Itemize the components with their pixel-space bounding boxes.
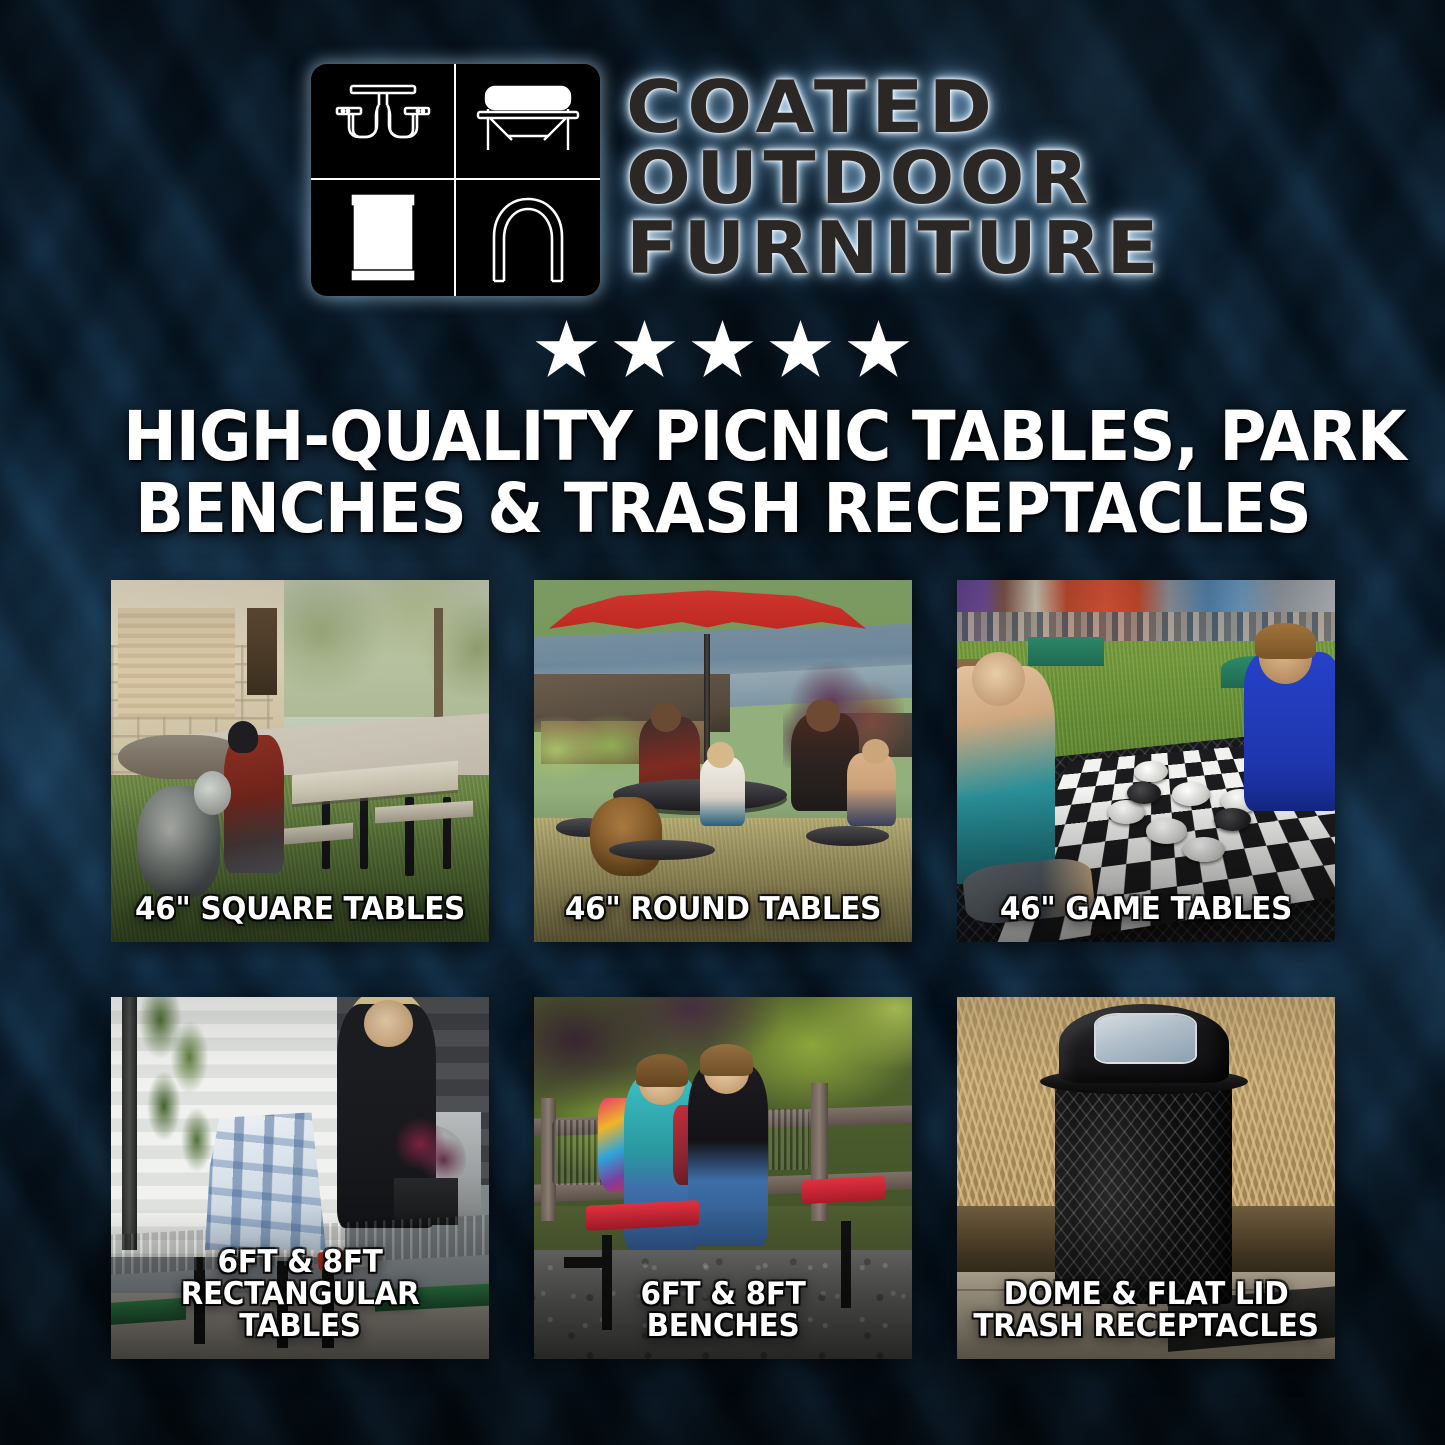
dome-lid-icon: [456, 180, 601, 296]
scene-person-head: [972, 652, 1025, 706]
scene-bench-seat: [802, 1175, 885, 1203]
scene-person-head: [364, 1000, 413, 1047]
product-tile-game-tables[interactable]: 46" GAME TABLES: [957, 580, 1335, 942]
product-caption-square-tables: 46" SQUARE TABLES: [120, 894, 479, 926]
product-tile-round-tables[interactable]: 46" ROUND TABLES: [534, 580, 912, 942]
scene-round-seat: [609, 840, 715, 860]
scene-soil-bag: [205, 1112, 326, 1250]
scene-checker-piece: [1134, 761, 1168, 783]
product-tile-square-tables[interactable]: 46" SQUARE TABLES: [111, 580, 489, 942]
scene-dog: [590, 797, 662, 877]
scene-tree-trunk: [434, 608, 443, 717]
scene-person: [224, 735, 284, 873]
scene-lid-opening: [1096, 1015, 1194, 1062]
scene-dog-head: [194, 771, 232, 814]
scene-checker-piece: [1146, 818, 1188, 843]
brand-logo-lockup: COATED OUTDOOR FURNITURE: [311, 60, 1133, 300]
star-icon: [692, 320, 754, 380]
scene-trash-can-body: [1055, 1080, 1233, 1304]
caption-line-1: 46" SQUARE TABLES: [120, 894, 479, 926]
promo-poster: COATED OUTDOOR FURNITURE HIGH-QUALITY PI…: [0, 0, 1445, 1445]
headline: HIGH-QUALITY PICNIC TABLES, PARK BENCHES…: [123, 402, 1323, 546]
scene-person-hair: [1255, 623, 1315, 659]
scene-child-hair: [700, 1044, 753, 1077]
scene-garage-door: [118, 608, 235, 717]
trash-receptacle-icon: [311, 180, 456, 296]
scene-child-hair: [636, 1054, 689, 1087]
poster-content: COATED OUTDOOR FURNITURE HIGH-QUALITY PI…: [0, 0, 1445, 1445]
bench-icon: [456, 64, 601, 180]
star-icon: [614, 320, 676, 380]
scene-checker-piece: [1214, 808, 1252, 832]
scene-child-head: [862, 739, 888, 764]
product-grid: 46" SQUARE TABLES: [111, 580, 1335, 1359]
scene-checker-piece: [1183, 837, 1225, 862]
product-caption-trash-receptacles: DOME & FLAT LID TRASH RECEPTACLES: [966, 1279, 1325, 1343]
headline-line-2: BENCHES & TRASH RECEPTACLES: [123, 474, 1323, 546]
product-tile-benches[interactable]: 6FT & 8FT BENCHES: [534, 997, 912, 1359]
scene-child: [847, 753, 896, 825]
scene-person-head: [651, 703, 681, 732]
brand-name-line-3: FURNITURE: [626, 214, 1164, 282]
scene-checker-piece: [1172, 782, 1210, 806]
product-photo-round-tables: [534, 580, 912, 942]
scene-checker-piece: [1127, 782, 1161, 804]
star-icon: [536, 320, 598, 380]
caption-line-1: 6FT & 8FT: [543, 1279, 902, 1311]
headline-line-1: HIGH-QUALITY PICNIC TABLES, PARK: [123, 402, 1323, 474]
scene-shrubs: [534, 710, 647, 790]
star-rating: [536, 320, 910, 380]
caption-line-1: 46" ROUND TABLES: [543, 894, 902, 926]
scene-checker-piece: [1108, 800, 1146, 824]
product-caption-game-tables: 46" GAME TABLES: [966, 894, 1325, 926]
caption-line-1: DOME & FLAT LID: [966, 1279, 1325, 1311]
scene-bench-foot: [564, 1257, 609, 1268]
product-photo-square-tables: [111, 580, 489, 942]
product-caption-benches: 6FT & 8FT BENCHES: [543, 1279, 902, 1343]
scene-hanging-ivy: [133, 997, 224, 1185]
star-icon: [770, 320, 832, 380]
product-tile-trash-receptacles[interactable]: DOME & FLAT LID TRASH RECEPTACLES: [957, 997, 1335, 1359]
product-caption-round-tables: 46" ROUND TABLES: [543, 894, 902, 926]
caption-line-2: BENCHES: [543, 1311, 902, 1343]
brand-logo-mark: [311, 64, 600, 296]
picnic-table-icon: [311, 64, 456, 180]
scene-trees: [269, 580, 488, 718]
scene-green-picnic-table: [1028, 637, 1104, 666]
caption-line-2: RECTANGULAR TABLES: [120, 1279, 479, 1343]
brand-name: COATED OUTDOOR FURNITURE: [626, 73, 1133, 286]
product-tile-rectangular-tables[interactable]: 6FT & 8FT RECTANGULAR TABLES: [111, 997, 489, 1359]
brand-name-line-1: COATED: [626, 73, 997, 141]
caption-line-1: 6FT & 8FT: [120, 1247, 479, 1279]
caption-line-2: TRASH RECEPTACLES: [966, 1311, 1325, 1343]
product-photo-game-tables: [957, 580, 1335, 942]
scene-person-head: [806, 699, 840, 732]
scene-person-head: [228, 721, 258, 754]
scene-child-head: [707, 742, 733, 767]
scene-round-seat: [806, 826, 889, 846]
star-icon: [848, 320, 910, 380]
brand-name-line-2: OUTDOOR: [626, 144, 1094, 212]
product-caption-rectangular-tables: 6FT & 8FT RECTANGULAR TABLES: [120, 1247, 479, 1343]
scene-front-door: [247, 608, 277, 695]
caption-line-1: 46" GAME TABLES: [966, 894, 1325, 926]
scene-table-leg: [360, 789, 368, 869]
